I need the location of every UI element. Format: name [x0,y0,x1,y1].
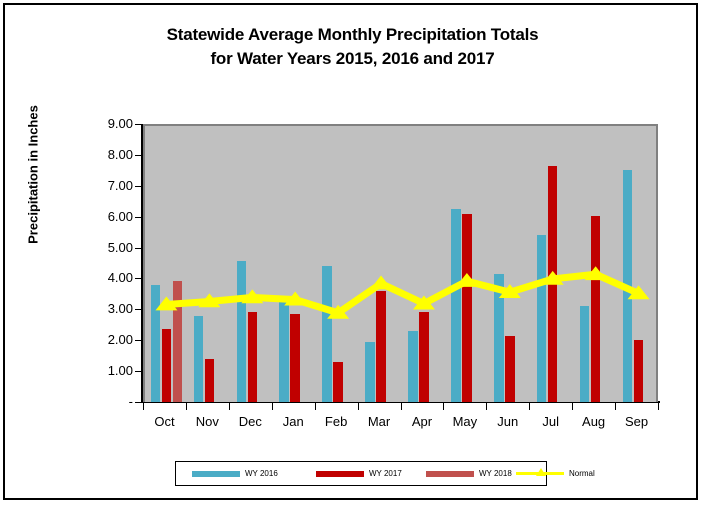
y-axis-tick-label: 8.00 [73,147,133,162]
y-axis-tick-label: 1.00 [73,363,133,378]
legend-label: Normal [569,467,595,481]
x-axis-tick-mark [658,403,659,410]
x-axis-tick-label: Dec [229,414,272,429]
x-axis-tick-mark [401,403,402,410]
legend-color-swatch [192,471,240,477]
x-axis-tick-mark [529,403,530,410]
x-axis-tick-label: Nov [186,414,229,429]
x-axis-tick-label: Oct [143,414,186,429]
y-axis-tick-label: 2.00 [73,332,133,347]
x-axis-tick-label: Jan [272,414,315,429]
x-axis-tick-mark [615,403,616,410]
x-axis-tick-mark [315,403,316,410]
y-axis-tick-label: 5.00 [73,240,133,255]
normal-marker-mar [370,275,392,289]
legend-label: WY 2017 [369,467,402,481]
x-axis-tick-label: Sep [615,414,658,429]
normal-line-path [166,274,638,313]
chart-frame: Statewide Average Monthly Precipitation … [3,3,698,500]
plot-area [143,124,658,402]
chart-legend: WY 2016WY 2017WY 2018Normal [175,461,547,486]
y-axis-tick-label: 7.00 [73,178,133,193]
y-axis-tick-label: 4.00 [73,270,133,285]
x-axis-tick-mark [186,403,187,410]
legend-color-swatch [316,471,364,477]
x-axis-tick-mark [272,403,273,410]
x-axis-tick-label: Aug [572,414,615,429]
x-axis-tick-label: Apr [401,414,444,429]
x-axis-tick-label: Jul [529,414,572,429]
x-axis-tick-label: May [443,414,486,429]
x-axis-tick-mark [143,403,144,410]
x-axis-tick-mark [229,403,230,410]
y-axis-tick-label: 9.00 [73,116,133,131]
x-axis-tick-mark [486,403,487,410]
x-axis-tick-mark [443,403,444,410]
y-axis-labels: -1.002.003.004.005.006.007.008.009.00 [67,5,133,512]
legend-label: WY 2018 [479,467,512,481]
y-axis-tick-label: 6.00 [73,209,133,224]
x-axis-tick-label: Jun [486,414,529,429]
legend-color-swatch [426,471,474,477]
normal-line-series [145,126,660,404]
y-axis-tick-label: - [73,394,133,409]
legend-label: WY 2016 [245,467,278,481]
x-axis-tick-mark [572,403,573,410]
x-axis-tick-label: Mar [358,414,401,429]
y-axis-tick-label: 3.00 [73,301,133,316]
y-axis-title: Precipitation in Inches [26,65,41,285]
x-axis-tick-mark [358,403,359,410]
legend-triangle-marker [536,468,546,476]
x-axis-tick-label: Feb [315,414,358,429]
